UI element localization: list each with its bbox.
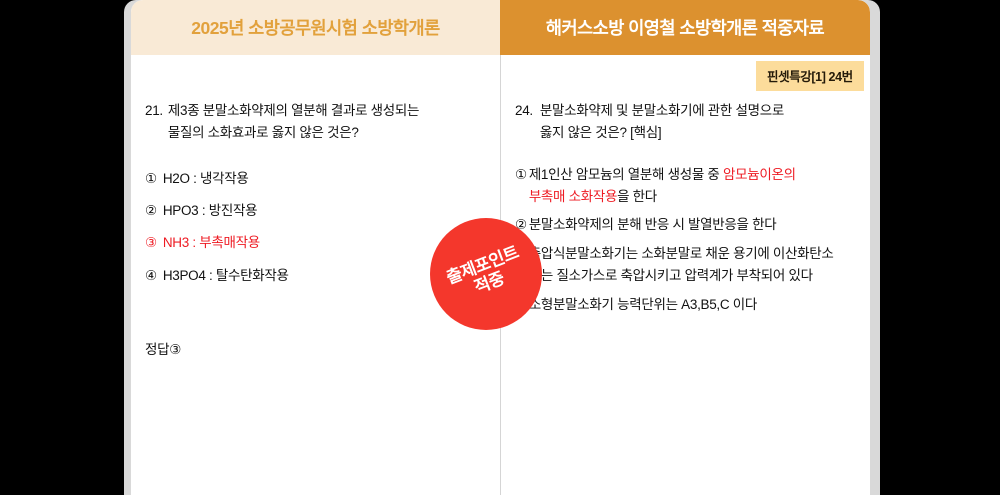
slide-stage: 2025년 소방공무원시험 소방학개론 해커스소방 이영철 소방학개론 적중자료… — [0, 0, 1000, 495]
left-answer-label: 정답③ — [145, 338, 482, 358]
left-header-bar: 2025년 소방공무원시험 소방학개론 — [131, 0, 500, 55]
right-question-number: 24. — [515, 100, 533, 122]
right-question-text: 분말소화약제 및 분말소화기에 관한 설명으로 옳지 않은 것은? [핵심] — [540, 100, 784, 144]
left-question-line1: 제3종 분말소화약제의 열분해 결과로 생성되는 — [168, 103, 419, 118]
left-choice-4-marker: ④ — [145, 265, 157, 286]
right-question-panel: 24. 분말소화약제 및 분말소화기에 관한 설명으로 옳지 않은 것은? [핵… — [501, 55, 870, 495]
left-choice-2-marker: ② — [145, 200, 157, 221]
right-choice-1-cont-black: 을 한다 — [617, 189, 657, 204]
left-choice-1[interactable]: ① H2O : 냉각작용 — [145, 168, 482, 189]
left-choice-2[interactable]: ② HPO3 : 방진작용 — [145, 200, 482, 221]
right-choice-4-text: 소형분말소화기 능력단위는 A3,B5,C 이다 — [529, 294, 860, 316]
left-choice-1-marker: ① — [145, 168, 157, 189]
left-question-stem: 21. 제3종 분말소화약제의 열분해 결과로 생성되는 물질의 소화효과로 옳… — [145, 100, 482, 144]
right-choice-1-text: 제1인산 암모늄의 열분해 생성물 중 암모늄이온의 부촉매 소화작용을 한다 — [529, 164, 860, 208]
left-choice-3-marker: ③ — [145, 232, 157, 253]
right-choice-3-line1: 축압식분말소화기는 소화분말로 채운 용기에 이산화탄소 — [529, 246, 834, 261]
right-choice-list: ① 제1인산 암모늄의 열분해 생성물 중 암모늄이온의 부촉매 소화작용을 한… — [515, 164, 860, 316]
right-choice-3-text: 축압식분말소화기는 소화분말로 채운 용기에 이산화탄소 또는 질소가스로 축압… — [529, 243, 860, 287]
exam-point-stamp: 출제포인트 적중 — [430, 218, 542, 330]
right-choice-3-line2: 또는 질소가스로 축압시키고 압력계가 부착되어 있다 — [529, 265, 860, 287]
right-choice-1[interactable]: ① 제1인산 암모늄의 열분해 생성물 중 암모늄이온의 부촉매 소화작용을 한… — [515, 164, 860, 208]
left-choice-2-text: HPO3 : 방진작용 — [163, 200, 482, 221]
right-choice-3[interactable]: ③ 축압식분말소화기는 소화분말로 채운 용기에 이산화탄소 또는 질소가스로 … — [515, 243, 860, 287]
right-choice-2-text: 분말소화약제의 분해 반응 시 발열반응을 한다 — [529, 214, 860, 236]
right-choice-4[interactable]: ④ 소형분말소화기 능력단위는 A3,B5,C 이다 — [515, 294, 860, 316]
right-choice-1-text-red: 암모늄이온의 — [723, 167, 796, 182]
right-header-title: 해커스소방 이영철 소방학개론 적중자료 — [546, 15, 824, 40]
right-question-line2: 옳지 않은 것은? [핵심] — [540, 122, 784, 144]
right-choice-1-text-black: 제1인산 암모늄의 열분해 생성물 중 — [529, 167, 723, 182]
left-header-title: 2025년 소방공무원시험 소방학개론 — [191, 15, 439, 40]
left-choice-1-text: H2O : 냉각작용 — [163, 168, 482, 189]
right-header-bar: 해커스소방 이영철 소방학개론 적중자료 — [500, 0, 870, 55]
left-question-number: 21. — [145, 100, 163, 122]
right-question-line1: 분말소화약제 및 분말소화기에 관한 설명으로 — [540, 103, 784, 118]
right-choice-2[interactable]: ② 분말소화약제의 분해 반응 시 발열반응을 한다 — [515, 214, 860, 236]
left-question-line2: 물질의 소화효과로 옳지 않은 것은? — [168, 122, 419, 144]
left-question-text: 제3종 분말소화약제의 열분해 결과로 생성되는 물질의 소화효과로 옳지 않은… — [168, 100, 419, 144]
left-choice-3[interactable]: ③ NH3 : 부촉매작용 — [145, 232, 482, 253]
right-choice-1-marker: ① — [515, 164, 527, 186]
right-choice-1-continuation: 부촉매 소화작용을 한다 — [529, 186, 860, 208]
right-question-stem: 24. 분말소화약제 및 분말소화기에 관한 설명으로 옳지 않은 것은? [핵… — [515, 100, 860, 144]
stamp-text: 출제포인트 적중 — [444, 243, 528, 306]
right-choice-1-cont-red: 부촉매 소화작용 — [529, 189, 617, 204]
